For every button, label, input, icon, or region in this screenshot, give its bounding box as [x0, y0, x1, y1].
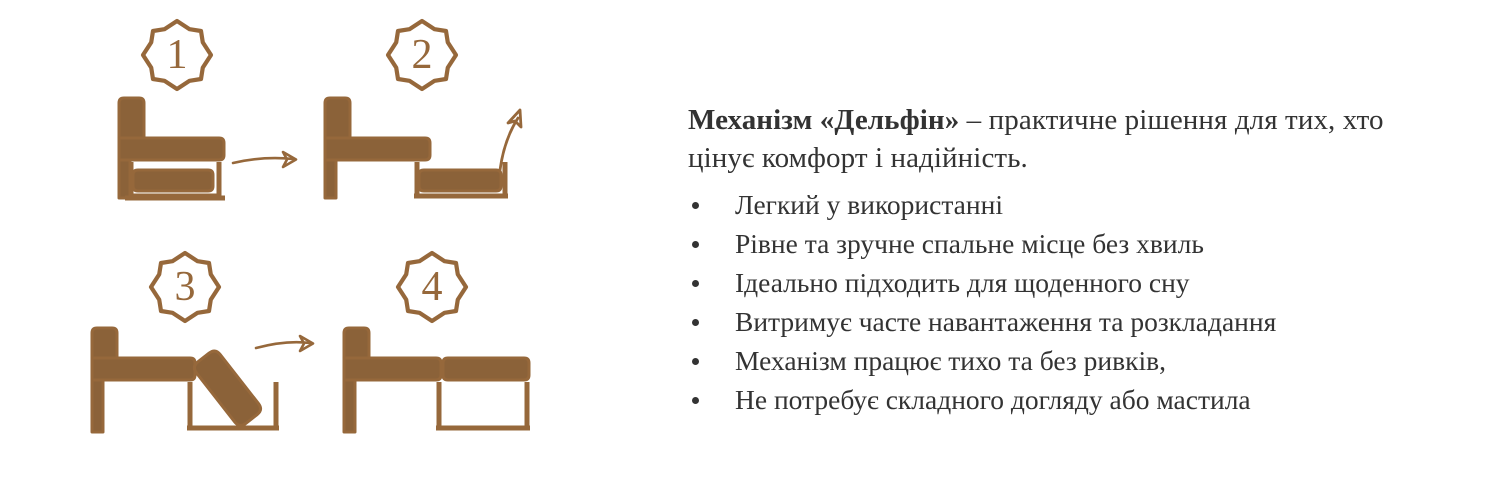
list-item: Не потребує складного догляду або мастил…: [688, 380, 1468, 419]
sofa-mechanism-diagram: 1: [0, 0, 660, 480]
step-2-arrow: [500, 110, 521, 170]
diagram-step-4: 4: [344, 253, 530, 432]
step-3-arrow: [256, 336, 313, 351]
intro-paragraph: Механізм «Дельфін» – практичне рішення д…: [688, 101, 1448, 177]
step-3-sofa-icon: [92, 328, 279, 432]
step-1-badge: 1: [143, 21, 211, 89]
feature-text: Рівне та зручне спальне місце без хвиль: [735, 228, 1204, 259]
step-1-sofa-icon: [119, 98, 225, 198]
step-4-bed-icon: [344, 328, 530, 432]
bullet-icon: [692, 397, 699, 404]
diagram-step-3: 3: [92, 253, 313, 432]
step-3-number: 3: [175, 264, 196, 310]
step-2-number: 2: [412, 32, 433, 78]
list-item: Легкий у використанні: [688, 185, 1468, 224]
feature-list: Легкий у використанні Рівне та зручне сп…: [688, 185, 1468, 419]
list-item: Механізм працює тихо та без ривків,: [688, 341, 1468, 380]
step-4-number: 4: [422, 264, 443, 310]
feature-text: Легкий у використанні: [735, 189, 1003, 220]
bullet-icon: [692, 280, 699, 287]
step-2-badge: 2: [388, 21, 456, 89]
bullet-icon: [692, 202, 699, 209]
tilted-cushion-icon: [192, 348, 264, 428]
list-item: Рівне та зручне спальне місце без хвиль: [688, 224, 1468, 263]
description-panel: Механізм «Дельфін» – практичне рішення д…: [688, 0, 1478, 480]
feature-text: Механізм працює тихо та без ривків,: [735, 345, 1166, 376]
step-3-badge: 3: [151, 253, 219, 321]
step-1-number: 1: [167, 32, 188, 78]
feature-text: Витримує часте навантаження та розкладан…: [735, 306, 1276, 337]
bullet-icon: [692, 319, 699, 326]
bullet-icon: [692, 241, 699, 248]
list-item: Витримує часте навантаження та розкладан…: [688, 302, 1468, 341]
diagram-step-1: 1: [119, 21, 296, 198]
feature-text: Ідеально підходить для щоденного сну: [735, 267, 1190, 298]
diagram-step-2: 2: [325, 21, 521, 198]
diagram-svg: 1: [0, 0, 660, 480]
arrow-right-icon: [233, 158, 293, 163]
intro-lead: Механізм «Дельфін»: [688, 104, 959, 136]
feature-text: Не потребує складного догляду або мастил…: [735, 384, 1251, 415]
step-1-arrow: [233, 152, 296, 167]
bullet-icon: [692, 358, 699, 365]
list-item: Ідеально підходить для щоденного сну: [688, 263, 1468, 302]
step-2-sofa-icon: [325, 98, 508, 198]
step-4-badge: 4: [398, 253, 466, 321]
page-root: 1: [0, 0, 1500, 480]
